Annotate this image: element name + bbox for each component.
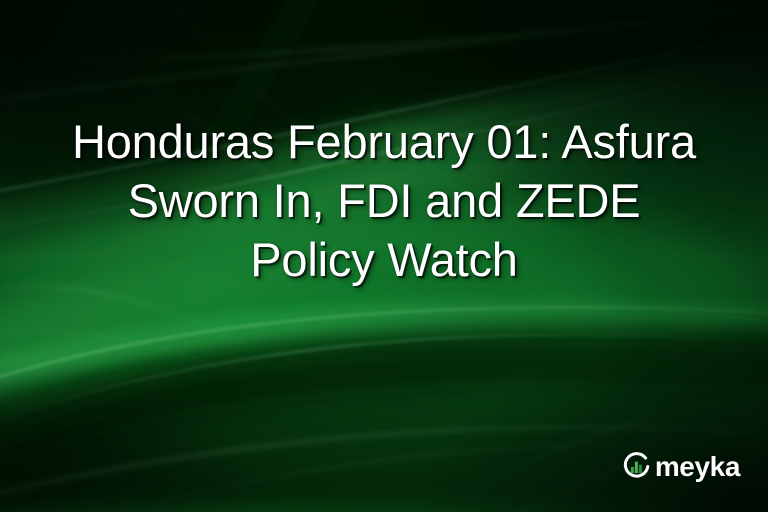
brand-logo[interactable]: meyka — [621, 448, 740, 484]
circle-bar-chart-icon — [621, 451, 652, 482]
article-banner-card: Honduras February 01: Asfura Sworn In, F… — [0, 0, 768, 512]
brand-wordmark: meyka — [655, 451, 740, 482]
banner-title-block: Honduras February 01: Asfura Sworn In, F… — [0, 112, 768, 289]
page-title: Honduras February 01: Asfura Sworn In, F… — [26, 112, 742, 289]
